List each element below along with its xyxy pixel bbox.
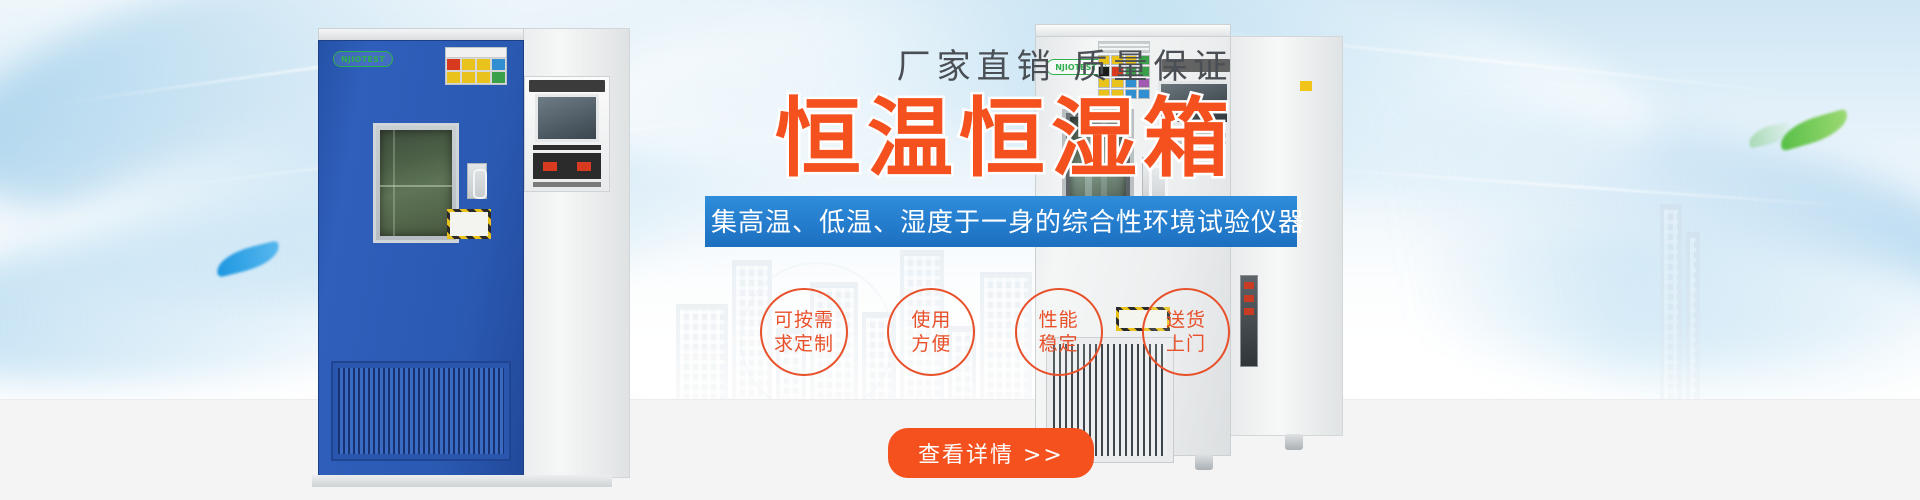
feature-line-1: 性能 [1039, 308, 1079, 332]
vent-grille [331, 361, 511, 461]
subtitle-bar: 集高温、低温、湿度于一身的综合性环境试验仪器 [705, 196, 1297, 247]
left-control-panel [524, 76, 610, 192]
feature-line-2: 稳定 [1039, 332, 1079, 356]
feature-line-1: 使用 [911, 308, 951, 332]
panel-indicators [533, 153, 601, 179]
copy-block: 厂家直销 质量保证 恒温恒湿箱 集高温、低温、湿度于一身的综合性环境试验仪器 [705, 50, 1305, 247]
view-details-button[interactable]: 查看详情 >> [888, 428, 1094, 478]
left-machine-base [312, 475, 612, 487]
feature-badge-easy-use[interactable]: 使用 方便 [887, 288, 975, 376]
warning-label [445, 47, 507, 85]
door-handle [467, 163, 487, 199]
page-title: 恒温恒湿箱 [705, 94, 1305, 184]
feature-line-2: 上门 [1166, 332, 1206, 356]
feature-badges: 可按需 求定制 使用 方便 性能 稳定 送货 上门 [760, 288, 1230, 376]
feature-line-1: 可按需 [774, 308, 834, 332]
leveling-foot [1285, 434, 1303, 450]
panel-title-plate [529, 80, 605, 92]
tagline: 厂家直销 质量保证 [705, 50, 1305, 84]
feature-badge-delivery[interactable]: 送货 上门 [1142, 288, 1230, 376]
panel-display [535, 94, 599, 142]
caution-sticker [447, 209, 491, 239]
product-image-left: NJIOTEST [318, 28, 630, 500]
leveling-foot [1195, 454, 1213, 470]
brand-logo: NJIOTEST [333, 51, 393, 67]
left-machine-body: NJIOTEST [318, 40, 524, 477]
feature-line-1: 送货 [1166, 308, 1206, 332]
feature-badge-custom[interactable]: 可按需 求定制 [760, 288, 848, 376]
promo-banner: NJIOTEST [0, 0, 1920, 500]
feature-badge-stable[interactable]: 性能 稳定 [1015, 288, 1103, 376]
feature-line-2: 求定制 [774, 332, 834, 356]
feature-line-2: 方便 [911, 332, 951, 356]
